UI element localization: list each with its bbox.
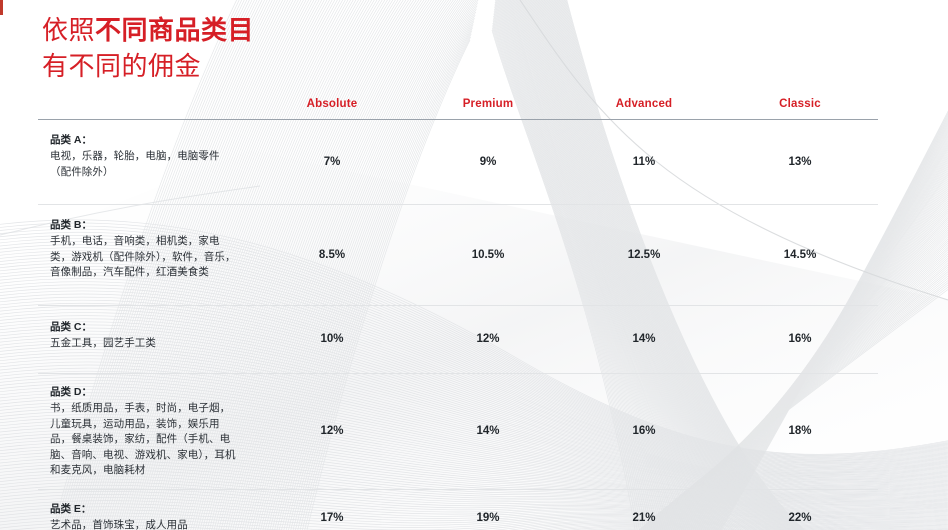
table-header: Absolute Premium Advanced Classic — [38, 98, 878, 120]
page-title: 依照不同商品类目 有不同的佣金 — [42, 12, 472, 84]
category-description: 艺术品，首饰珠宝，成人用品 — [50, 518, 240, 530]
category-name: 品类 D： — [50, 385, 240, 400]
title-emphasis: 不同商品类目 — [95, 15, 254, 45]
category-cell: 品类 A： 电视，乐器，轮胎，电脑，电脑零件（配件除外） — [38, 120, 254, 205]
table-row: 品类 A： 电视，乐器，轮胎，电脑，电脑零件（配件除外） 7% 9% 11% 1… — [38, 120, 878, 205]
title-plain: 依照 — [42, 15, 95, 45]
category-name: 品类 E： — [50, 502, 240, 517]
table-row: 品类 E： 艺术品，首饰珠宝，成人用品 17% 19% 21% 22% — [38, 489, 878, 530]
slide-content: 依照不同商品类目 有不同的佣金 Absolute Premium Advance… — [0, 0, 948, 530]
rate-classic: 22% — [722, 489, 878, 530]
table-header-row: Absolute Premium Advanced Classic — [38, 98, 878, 120]
category-name: 品类 B： — [50, 218, 240, 233]
rate-premium: 12% — [410, 305, 566, 374]
column-header-advanced: Advanced — [566, 98, 722, 120]
table-row: 品类 B： 手机，电话，音响类，相机类，家电类，游戏机（配件除外），软件，音乐，… — [38, 205, 878, 306]
accent-corner-tick — [0, 0, 3, 15]
rate-premium: 19% — [410, 489, 566, 530]
title-line-1: 依照不同商品类目 — [42, 12, 472, 48]
table-body: 品类 A： 电视，乐器，轮胎，电脑，电脑零件（配件除外） 7% 9% 11% 1… — [38, 120, 878, 530]
rate-classic: 14.5% — [722, 205, 878, 306]
column-header-classic: Classic — [722, 98, 878, 120]
category-cell: 品类 D： 书，纸质用品，手表，时尚，电子烟，儿童玩具，运动用品，装饰，娱乐用品… — [38, 374, 254, 490]
category-name: 品类 C： — [50, 320, 240, 335]
category-description: 电视，乐器，轮胎，电脑，电脑零件（配件除外） — [50, 149, 240, 180]
rate-premium: 9% — [410, 120, 566, 205]
rate-absolute: 10% — [254, 305, 410, 374]
rate-advanced: 11% — [566, 120, 722, 205]
rate-advanced: 21% — [566, 489, 722, 530]
rate-advanced: 14% — [566, 305, 722, 374]
rate-premium: 14% — [410, 374, 566, 490]
category-description: 五金工具，园艺手工类 — [50, 336, 240, 352]
category-description: 手机，电话，音响类，相机类，家电类，游戏机（配件除外），软件，音乐，音像制品，汽… — [50, 234, 240, 281]
table-row: 品类 C： 五金工具，园艺手工类 10% 12% 14% 16% — [38, 305, 878, 374]
table-row: 品类 D： 书，纸质用品，手表，时尚，电子烟，儿童玩具，运动用品，装饰，娱乐用品… — [38, 374, 878, 490]
column-header-premium: Premium — [410, 98, 566, 120]
rate-absolute: 17% — [254, 489, 410, 530]
rate-advanced: 16% — [566, 374, 722, 490]
category-cell: 品类 C： 五金工具，园艺手工类 — [38, 305, 254, 374]
category-cell: 品类 B： 手机，电话，音响类，相机类，家电类，游戏机（配件除外），软件，音乐，… — [38, 205, 254, 306]
column-header-category — [38, 98, 254, 120]
rate-absolute: 7% — [254, 120, 410, 205]
rate-classic: 16% — [722, 305, 878, 374]
rate-premium: 10.5% — [410, 205, 566, 306]
rate-advanced: 12.5% — [566, 205, 722, 306]
category-cell: 品类 E： 艺术品，首饰珠宝，成人用品 — [38, 489, 254, 530]
column-header-absolute: Absolute — [254, 98, 410, 120]
title-line-2: 有不同的佣金 — [42, 48, 472, 84]
rate-classic: 13% — [722, 120, 878, 205]
rate-absolute: 8.5% — [254, 205, 410, 306]
category-description: 书，纸质用品，手表，时尚，电子烟，儿童玩具，运动用品，装饰，娱乐用品，餐桌装饰，… — [50, 401, 240, 479]
commission-table: Absolute Premium Advanced Classic 品类 A： … — [38, 98, 878, 530]
rate-classic: 18% — [722, 374, 878, 490]
rate-absolute: 12% — [254, 374, 410, 490]
category-name: 品类 A： — [50, 133, 240, 148]
